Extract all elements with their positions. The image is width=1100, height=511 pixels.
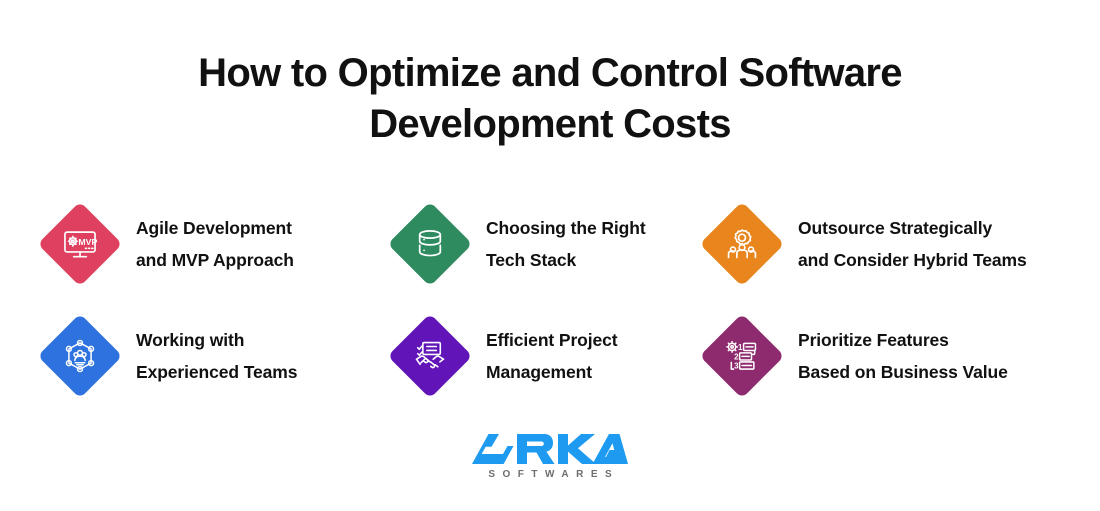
list-item-label: Agile Development and MVP Approach xyxy=(136,212,294,277)
diamond-shape xyxy=(388,202,473,287)
list-item-label-line-1: Agile Development xyxy=(136,218,292,238)
brand-logo: SOFTWARES xyxy=(472,432,628,480)
list-item-label: Efficient Project Management xyxy=(486,324,618,389)
diamond-shape: MVP xyxy=(38,202,123,287)
list-item-label-line-2: and Consider Hybrid Teams xyxy=(798,244,1027,277)
diamond-shape xyxy=(38,314,123,399)
diamond-badge-prioritize-features-business-value: 1 2 3 xyxy=(701,315,783,397)
list-item-label: Choosing the Right Tech Stack xyxy=(486,212,646,277)
list-item-label-line-1: Efficient Project xyxy=(486,330,618,350)
list-item[interactable]: 1 2 3 xyxy=(701,300,1077,412)
list-item-label-line-1: Choosing the Right xyxy=(486,218,646,238)
diamond-shape xyxy=(388,314,473,399)
svg-text:2: 2 xyxy=(734,353,739,362)
list-item-label-line-1: Prioritize Features xyxy=(798,330,949,350)
list-item-label: Working with Experienced Teams xyxy=(136,324,297,389)
diamond-badge-outsource-strategically xyxy=(701,203,783,285)
gear-team-icon xyxy=(722,224,762,264)
list-item-label-line-2: Experienced Teams xyxy=(136,356,297,389)
list-item[interactable]: MVP Agile Development and MVP Approach xyxy=(39,188,389,300)
diamond-shape: 1 2 3 xyxy=(700,314,785,399)
database-stack-icon xyxy=(410,224,450,264)
svg-text:3: 3 xyxy=(734,362,739,371)
list-item-label: Prioritize Features Based on Business Va… xyxy=(798,324,1008,389)
arka-wordmark-icon xyxy=(472,432,628,466)
monitor-mvp-gear-icon: MVP xyxy=(60,224,100,264)
infographic-canvas: How to Optimize and Control Software Dev… xyxy=(0,0,1100,511)
diamond-badge-agile-development-mvp: MVP xyxy=(39,203,121,285)
diamond-badge-efficient-project-management xyxy=(389,315,471,397)
page-title-heading: How to Optimize and Control Software Dev… xyxy=(110,48,990,150)
items-grid: MVP Agile Development and MVP Approach xyxy=(17,188,1083,412)
list-item[interactable]: Efficient Project Management xyxy=(389,300,701,412)
page-title-line-1: How to Optimize and Control Software xyxy=(198,51,902,95)
page-title-line-2: Development Costs xyxy=(369,102,731,146)
svg-text:1: 1 xyxy=(738,343,743,352)
svg-text:MVP: MVP xyxy=(78,237,97,247)
list-item-label-line-2: Management xyxy=(486,356,618,389)
brand-logo-tagline: SOFTWARES xyxy=(481,469,619,480)
diamond-shape xyxy=(700,202,785,287)
list-item-label-line-2: Tech Stack xyxy=(486,244,646,277)
priority-list-gear-icon: 1 2 3 xyxy=(722,336,762,376)
list-item[interactable]: Outsource Strategically and Consider Hyb… xyxy=(701,188,1077,300)
handshake-checklist-icon xyxy=(410,336,450,376)
list-item-label-line-2: and MVP Approach xyxy=(136,244,294,277)
list-item-label-line-1: Outsource Strategically xyxy=(798,218,992,238)
diamond-badge-choosing-right-tech-stack xyxy=(389,203,471,285)
diamond-badge-working-with-experienced-teams xyxy=(39,315,121,397)
network-people-icon xyxy=(60,336,100,376)
list-item-label-line-1: Working with xyxy=(136,330,244,350)
list-item[interactable]: Working with Experienced Teams xyxy=(39,300,389,412)
list-item-label: Outsource Strategically and Consider Hyb… xyxy=(798,212,1027,277)
list-item[interactable]: Choosing the Right Tech Stack xyxy=(389,188,701,300)
page-title: How to Optimize and Control Software Dev… xyxy=(110,48,990,150)
list-item-label-line-2: Based on Business Value xyxy=(798,356,1008,389)
